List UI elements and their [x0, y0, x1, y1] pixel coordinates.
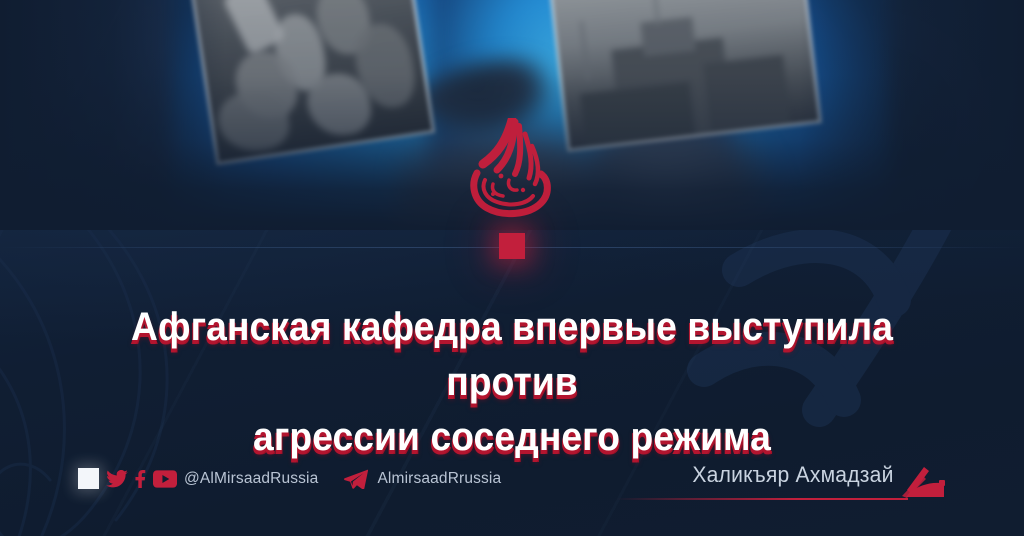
facebook-f-icon[interactable]	[135, 470, 146, 488]
byline-underline	[616, 498, 908, 500]
youtube-play-icon[interactable]	[153, 470, 177, 488]
social-handle-primary[interactable]: @AlMirsaadRussia	[184, 470, 318, 488]
telegram-plane-icon[interactable]	[344, 469, 368, 489]
almirsaad-arabic-calligraphy-logo	[457, 118, 567, 223]
twitter-bird-icon[interactable]	[106, 470, 128, 488]
red-accent-square	[499, 233, 525, 259]
author-name: Халикъяр Ахмадзай	[693, 462, 894, 488]
red-pen-writing-icon	[900, 464, 946, 500]
social-handle-telegram[interactable]: AlmirsaadRrussia	[377, 470, 501, 488]
white-square-logo	[78, 468, 99, 489]
headline-line-1: Афганская кафедра впервые выступила прот…	[120, 300, 905, 410]
footer: @AlMirsaadRussia AlmirsaadRrussia Халикъ…	[0, 440, 1024, 536]
brand-logo	[0, 118, 1024, 223]
news-card: Афганская кафедра впервые выступила прот…	[0, 0, 1024, 536]
byline: Халикъяр Ахмадзай	[616, 462, 946, 510]
social-handles: @AlMirsaadRussia AlmirsaadRrussia	[78, 468, 501, 489]
